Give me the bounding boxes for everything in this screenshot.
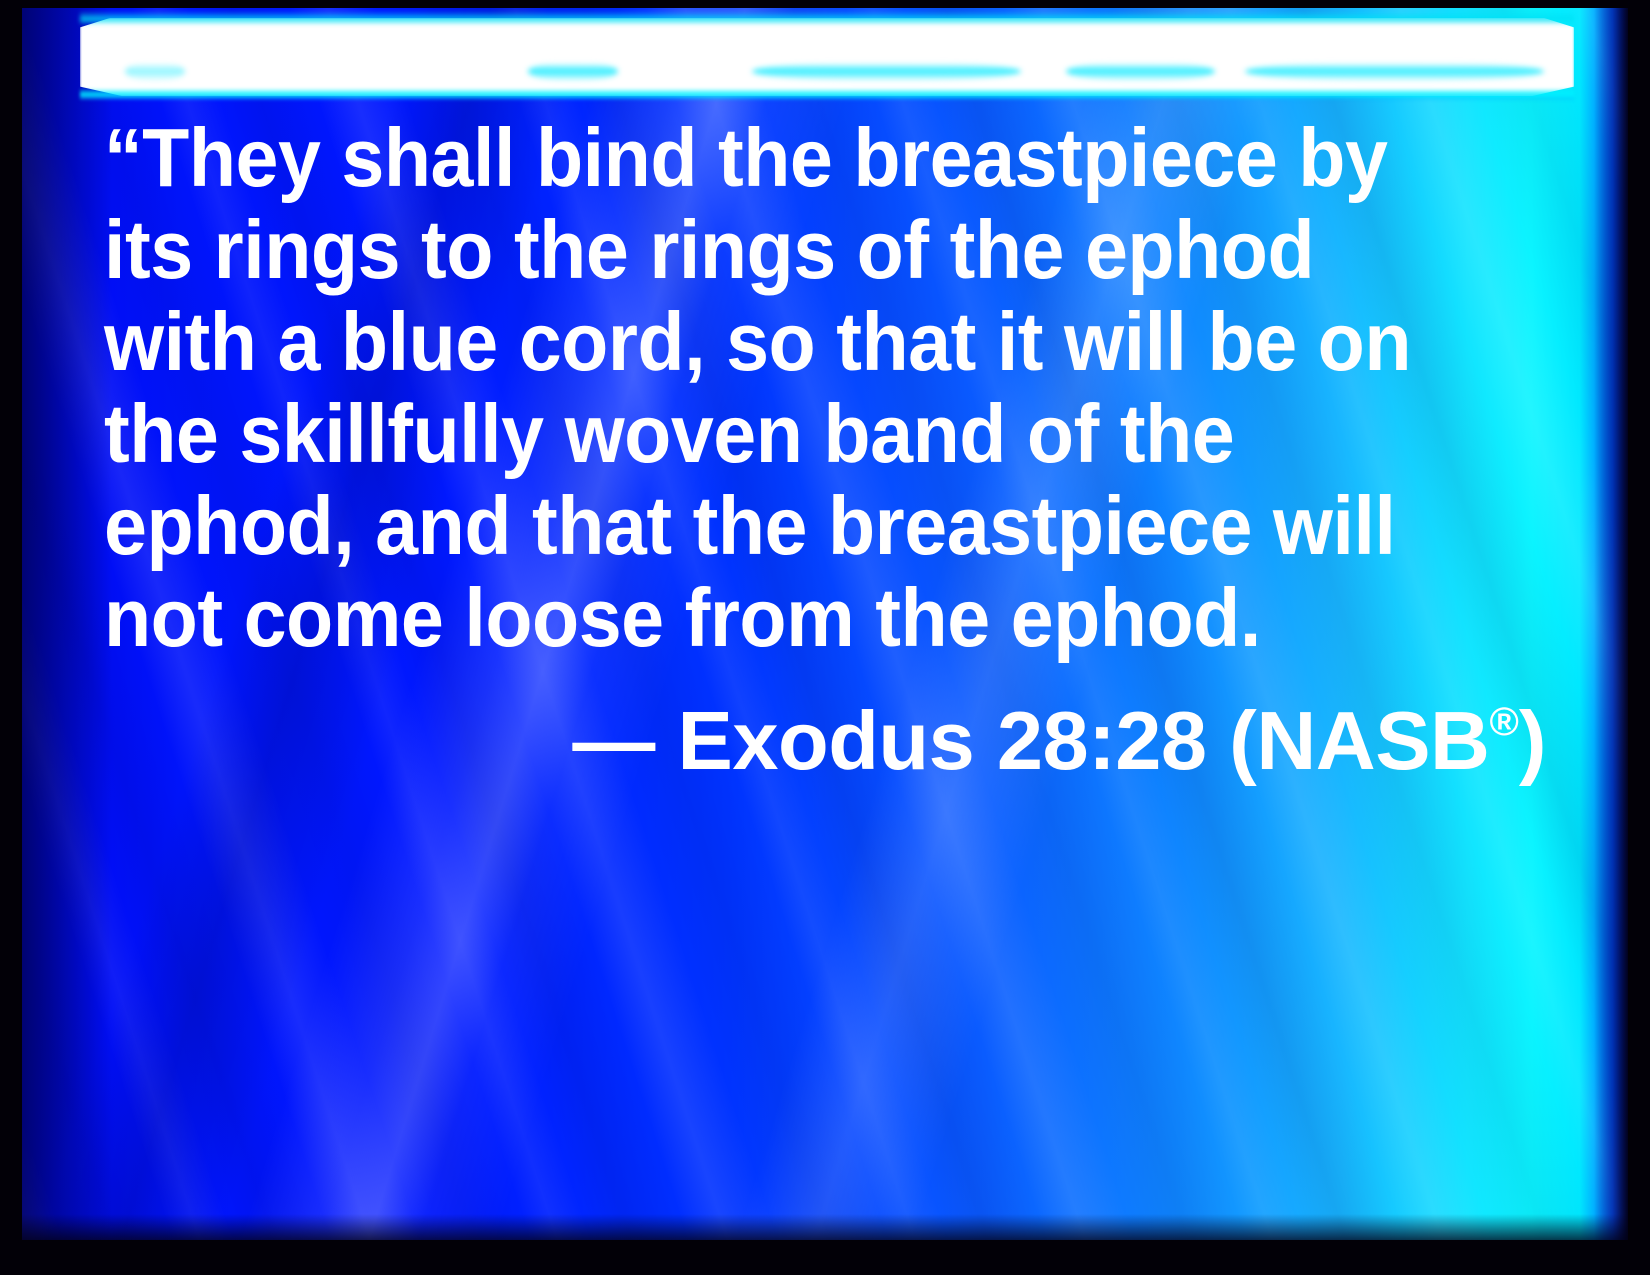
attribution-version: NASB [1256,694,1489,787]
verse-block: “They shall bind the breastpiece by its … [104,112,1554,787]
attribution-open-paren: ( [1229,694,1256,787]
verse-slide: “They shall bind the breastpiece by its … [0,0,1650,1275]
attribution-close-paren: ) [1519,694,1546,787]
gradient-panel: “They shall bind the breastpiece by its … [22,8,1628,1240]
attribution-book: Exodus [677,694,974,787]
attribution-reference: 28:28 [997,694,1207,787]
attribution-dash: — [572,694,655,787]
registered-trademark-icon: ® [1490,700,1519,744]
verse-attribution: — Exodus 28:28 (NASB®) [104,676,1554,787]
verse-body-text: “They shall bind the breastpiece by its … [104,112,1453,664]
